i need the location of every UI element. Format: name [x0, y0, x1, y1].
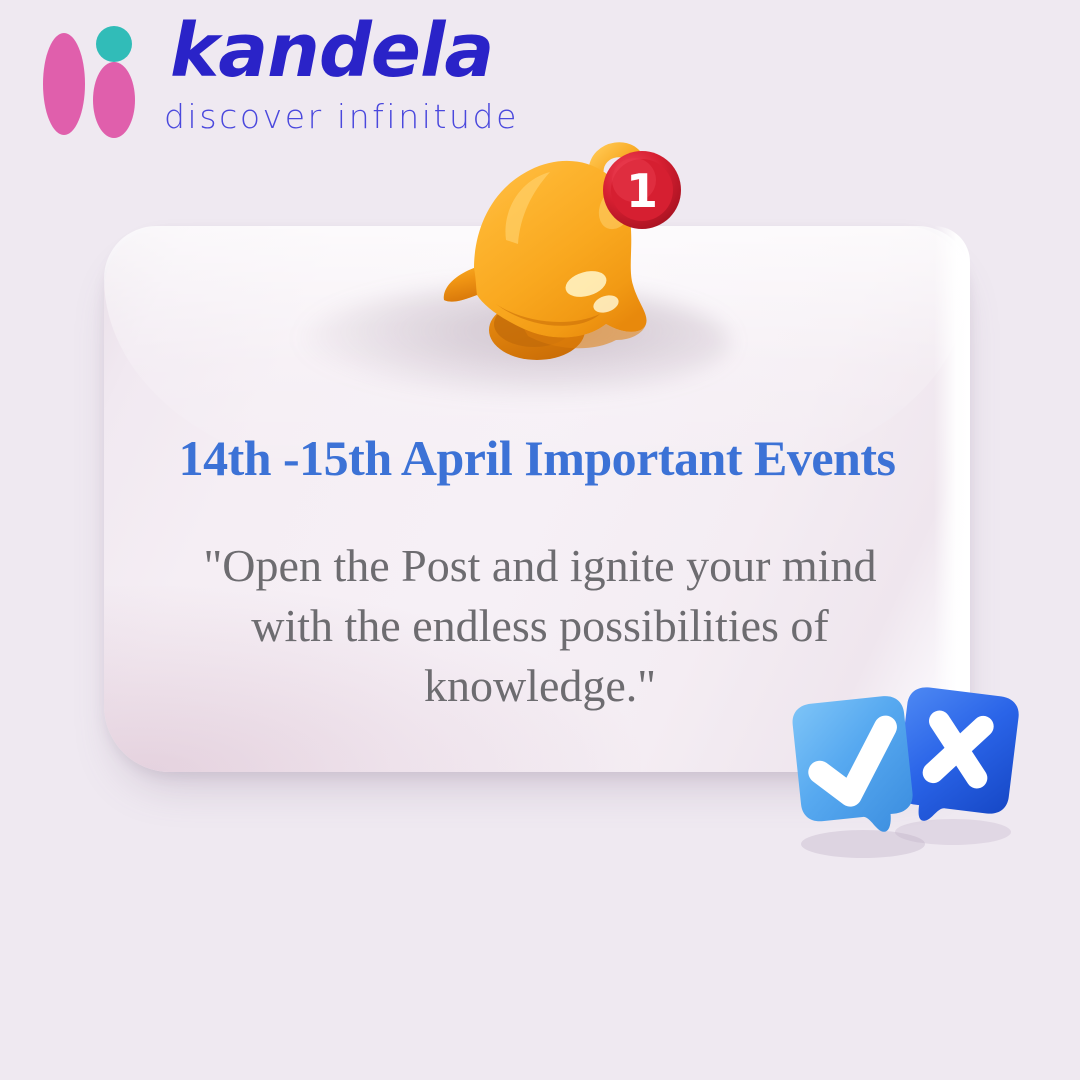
cross-bubble-icon [893, 685, 1020, 831]
poster-canvas: kandela discover infinitude 14th -15th A… [0, 0, 1080, 1080]
reaction-badges-group[interactable] [778, 672, 1028, 862]
page-title: 14th -15th April Important Events [104, 431, 970, 485]
kandela-logo-mark-icon [30, 20, 148, 138]
notification-count-label: 1 [626, 164, 658, 218]
brand-wordmark: kandela [170, 14, 493, 88]
bell-icon[interactable]: 1 [420, 118, 710, 370]
check-bubble-icon [791, 694, 916, 840]
